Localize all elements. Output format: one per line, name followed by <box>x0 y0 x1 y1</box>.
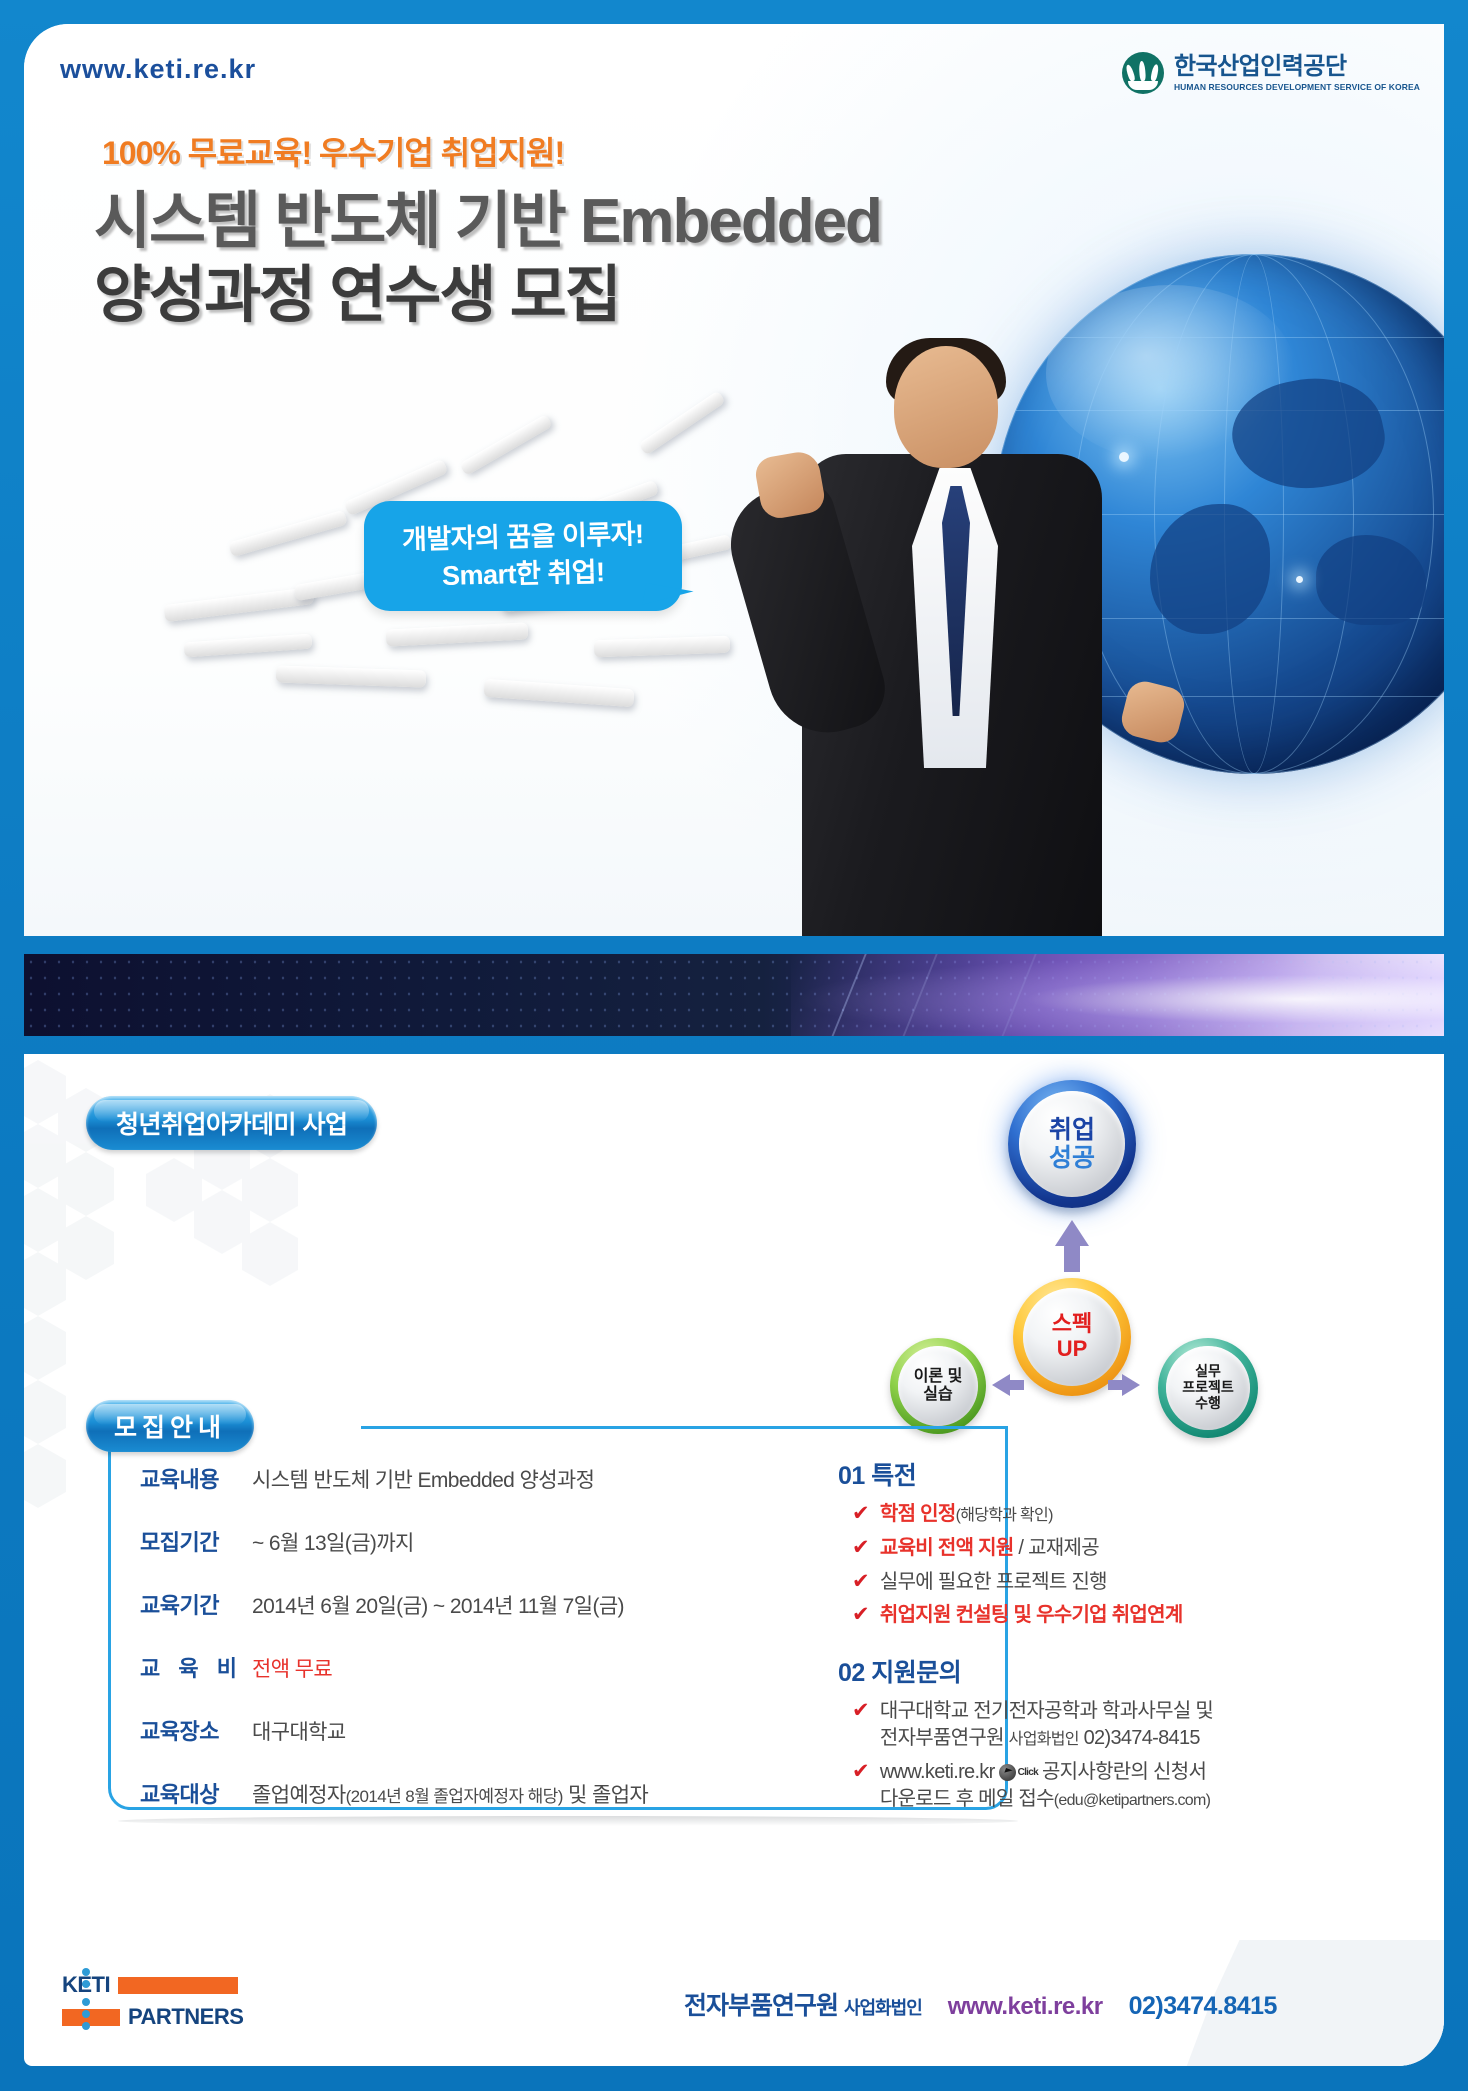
check-icon: ✔ <box>852 1569 869 1594</box>
section-pill-recruit: 모집안내 <box>86 1400 254 1452</box>
contact-web-email: (edu@ketipartners.com) <box>1054 1792 1210 1809</box>
contact-office-line2-small: 사업화법인 <box>1009 1731 1079 1748</box>
benefit-highlight: 취업지원 컨설팅 및 우수기업 취업연계 <box>880 1604 1183 1626</box>
diagram-project-line3: 수행 <box>1195 1396 1221 1412</box>
recruit-row-label: 교육내용 <box>140 1462 252 1494</box>
footer-tel: 02)3474.8415 <box>1129 1992 1277 2021</box>
recruit-row-label: 교육대상 <box>140 1777 252 1809</box>
benefit-text: 교육비 전액 지원 / 교재제공 <box>880 1535 1099 1562</box>
contact-item-office: ✔ 대구대학교 전기전자공학과 학과사무실 및 전자부품연구원 사업화법인 02… <box>838 1698 1268 1752</box>
diagram-node-theory: 이론 및 실습 <box>890 1338 986 1434</box>
recruit-row-value: 졸업예정자(2014년 8월 졸업자예정자 해당) 및 졸업자 <box>252 1779 648 1809</box>
recruit-row: 모집기간~ 6월 13일(금)까지 <box>140 1525 800 1557</box>
recruit-row: 교육내용시스템 반도체 기반 Embedded 양성과정 <box>140 1462 800 1494</box>
businessman-photo <box>744 336 1164 936</box>
benefit-plain: / 교재제공 <box>1014 1537 1099 1559</box>
diagram-project-line2: 프로젝트 <box>1182 1380 1234 1396</box>
hero-kicker: 100% 무료교육! 우수기업 취업지원! <box>102 128 564 174</box>
footer-org-name: 전자부품연구원 <box>684 1992 844 2020</box>
recruit-row-label: 모집기간 <box>140 1525 252 1557</box>
recruit-row: 교육대상졸업예정자(2014년 8월 졸업자예정자 해당) 및 졸업자 <box>140 1777 800 1809</box>
strip-glow <box>791 954 1444 1036</box>
click-label: Click <box>1018 1766 1038 1779</box>
contact-web-line2-a: 다운로드 후 메일 접수 <box>880 1788 1054 1810</box>
diagram-node-project: 실무 프로젝트 수행 <box>1158 1338 1258 1438</box>
recruit-row: 교 육 비전액 무료 <box>140 1651 800 1683</box>
check-icon: ✔ <box>852 1759 869 1784</box>
recruit-row-value: 전액 무료 <box>252 1653 332 1683</box>
diagram-project-line1: 실무 <box>1195 1364 1221 1380</box>
recruit-row: 교육기간2014년 6월 20일(금) ~ 2014년 11월 7일(금) <box>140 1588 800 1620</box>
section-pill-academy-label: 청년취업아카데미 사업 <box>116 1105 347 1141</box>
section-pill-recruit-label: 모집안내 <box>114 1408 226 1444</box>
click-cursor-icon: Click <box>999 1764 1038 1781</box>
diagram-node-spec-up: 스펙 UP <box>1013 1278 1131 1396</box>
recruit-row-label: 교 육 비 <box>140 1651 252 1683</box>
contact-list: ✔ 대구대학교 전기전자공학과 학과사무실 및 전자부품연구원 사업화법인 02… <box>838 1698 1268 1812</box>
arrow-up-icon <box>1055 1220 1089 1246</box>
benefits-title: 01 특전 <box>838 1456 1268 1492</box>
benefits-list: ✔학점 인정(해당학과 확인)✔교육비 전액 지원 / 교재제공✔실무에 필요한… <box>838 1501 1268 1629</box>
benefit-item: ✔취업지원 컨설팅 및 우수기업 취업연계 <box>838 1602 1268 1629</box>
keti-partners-logo: KETI PARTNERS <box>62 1970 292 2032</box>
tech-banner-strip <box>24 954 1444 1036</box>
poster-root: www.keti.re.kr 한국산업인력공단 HUMAN RESOURCES … <box>0 0 1468 2091</box>
contact-web-url[interactable]: www.keti.re.kr <box>880 1761 995 1783</box>
benefit-text: 실무에 필요한 프로젝트 진행 <box>880 1569 1107 1596</box>
benefit-text: 학점 인정(해당학과 확인) <box>880 1501 1053 1528</box>
footer-org-small: 사업화법인 <box>844 1998 922 2018</box>
check-icon: ✔ <box>852 1535 869 1560</box>
hero-title-line2: 양성과정 연수생 모집 <box>94 244 620 334</box>
footer-contact: 전자부품연구원 사업화법인 www.keti.re.kr 02)3474.841… <box>684 1986 1277 2022</box>
recruit-rows: 교육내용시스템 반도체 기반 Embedded 양성과정모집기간~ 6월 13일… <box>140 1462 800 1840</box>
diagram-theory-line1: 이론 및 <box>914 1368 963 1386</box>
diagram-node-success: 취업 성공 <box>1008 1080 1136 1208</box>
arrow-right-icon <box>1122 1374 1140 1396</box>
arrow-left-icon <box>992 1374 1010 1396</box>
hero-panel: www.keti.re.kr 한국산업인력공단 HUMAN RESOURCES … <box>24 24 1444 936</box>
speech-bubble-line1: 개발자의 꿈을 이루자! <box>402 518 644 557</box>
contact-office-line1: 대구대학교 전기전자공학과 학과사무실 및 <box>880 1700 1213 1722</box>
contact-item-web: ✔ www.keti.re.krClick공지사항란의 신청서 다운로드 후 메… <box>838 1759 1268 1813</box>
speech-bubble-line2: Smart한 취업! <box>441 556 604 593</box>
site-url-top[interactable]: www.keti.re.kr <box>60 54 256 85</box>
diagram-spec-line2: UP <box>1057 1337 1088 1362</box>
benefit-plain: 실무에 필요한 프로젝트 진행 <box>880 1571 1107 1593</box>
benefit-item: ✔교육비 전액 지원 / 교재제공 <box>838 1535 1268 1562</box>
footer-org: 전자부품연구원 사업화법인 <box>684 1986 922 2022</box>
recruit-row-value: 대구대학교 <box>252 1716 346 1746</box>
diagram-success-line2: 성공 <box>1049 1144 1095 1172</box>
footer: KETI PARTNERS 전자부품연구원 사업화법인 www.keti.re.… <box>24 1940 1444 2066</box>
hrd-emblem-icon <box>1122 52 1164 94</box>
benefit-note: (해당학과 확인) <box>956 1507 1053 1524</box>
diagram-spec-line1: 스펙 <box>1052 1312 1092 1337</box>
contact-web-rest: 공지사항란의 신청서 <box>1042 1761 1206 1783</box>
hrd-logo-en: HUMAN RESOURCES DEVELOPMENT SERVICE OF K… <box>1174 82 1420 92</box>
benefit-text: 취업지원 컨설팅 및 우수기업 취업연계 <box>880 1602 1183 1629</box>
section-pill-academy: 청년취업아카데미 사업 <box>86 1096 377 1150</box>
diagram-theory-line2: 실습 <box>923 1386 952 1404</box>
recruit-row: 교육장소대구대학교 <box>140 1714 800 1746</box>
right-column: 01 특전 ✔학점 인정(해당학과 확인)✔교육비 전액 지원 / 교재제공✔실… <box>838 1456 1268 1836</box>
check-icon: ✔ <box>852 1501 869 1526</box>
benefit-item: ✔실무에 필요한 프로젝트 진행 <box>838 1569 1268 1596</box>
contact-office-line2-a: 전자부품연구원 <box>880 1727 1009 1749</box>
benefit-item: ✔학점 인정(해당학과 확인) <box>838 1501 1268 1528</box>
recruit-row-value: ~ 6월 13일(금)까지 <box>252 1527 414 1557</box>
recruit-row-label: 교육장소 <box>140 1714 252 1746</box>
speech-bubble: 개발자의 꿈을 이루자! Smart한 취업! <box>364 501 682 611</box>
recruit-row-value: 시스템 반도체 기반 Embedded 양성과정 <box>252 1464 594 1494</box>
hrd-korea-logo: 한국산업인력공단 HUMAN RESOURCES DEVELOPMENT SER… <box>1122 52 1420 94</box>
hrd-logo-kr: 한국산업인력공단 <box>1174 55 1420 79</box>
process-diagram: 취업 성공 스펙 UP 이론 및 실습 실무 프로젝트 수행 <box>890 1080 1290 1410</box>
recruit-row-label: 교육기간 <box>140 1588 252 1620</box>
keti-dots-icon <box>82 1968 90 2032</box>
contact-office-phone: 02)3474-8415 <box>1079 1727 1200 1749</box>
keti-logo-bottom: PARTNERS <box>128 2004 243 2030</box>
recruit-row-value: 2014년 6월 20일(금) ~ 2014년 11월 7일(금) <box>252 1590 624 1620</box>
check-icon: ✔ <box>852 1602 869 1627</box>
contact-title: 02 지원문의 <box>838 1653 1268 1689</box>
benefit-highlight: 학점 인정 <box>880 1503 956 1525</box>
benefit-highlight: 교육비 전액 지원 <box>880 1537 1014 1559</box>
footer-url[interactable]: www.keti.re.kr <box>948 1993 1103 2021</box>
diagram-success-line1: 취업 <box>1049 1116 1095 1144</box>
check-icon: ✔ <box>852 1698 869 1723</box>
